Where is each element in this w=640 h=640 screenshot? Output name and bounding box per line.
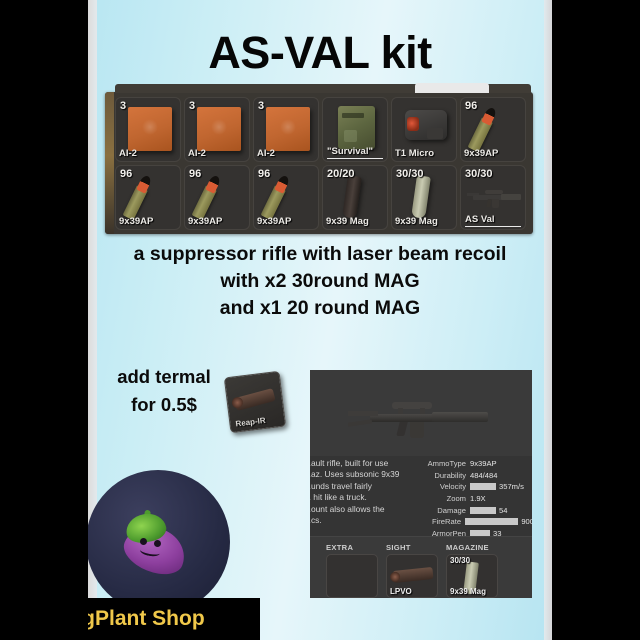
attachment-slot-title: SIGHT: [386, 543, 438, 552]
gun-description-line: ...ault rifle, built for use: [310, 458, 436, 469]
rifle-icon: [467, 188, 523, 208]
kit-description: a suppressor rifle with laser beam recoi…: [88, 243, 552, 320]
item-name: AI-2: [119, 148, 137, 159]
item-name: 9x39AP: [188, 216, 222, 227]
eggplant-eye-left-icon: [140, 538, 147, 545]
stat-label: AmmoType: [422, 459, 470, 468]
item-name: AI-2: [257, 148, 275, 159]
rifle-stock-lower-part: [348, 419, 372, 426]
attachment-slot-box[interactable]: [326, 554, 378, 598]
item-name: 9x39 Mag: [395, 216, 438, 227]
medkit-icon: [128, 107, 172, 151]
stat-label: Damage: [422, 506, 470, 515]
gun-preview: [310, 370, 532, 456]
inventory-slot[interactable]: 3AI-2: [253, 97, 319, 162]
stat-label: Durability: [422, 471, 470, 480]
thermal-offer-line-2: for 0.5$: [105, 394, 223, 416]
reap-ir-label: Reap-IR: [235, 416, 266, 429]
desc-line-3: and x1 20 round MAG: [88, 297, 552, 320]
stat-value: 54: [499, 506, 507, 515]
item-name: 9x39AP: [257, 216, 291, 227]
item-name: 9x39AP: [464, 148, 498, 159]
inventory-slot[interactable]: 969x39AP: [253, 165, 319, 230]
inventory-slot[interactable]: 969x39AP: [460, 97, 526, 162]
stat-value: 357m/s: [499, 482, 524, 491]
inventory-tab-active[interactable]: [415, 83, 489, 93]
inventory-slot[interactable]: T1 Micro: [391, 97, 457, 162]
attachment-name: 9x39 Mag: [450, 587, 486, 596]
gun-description-line: ...unds travel fairly: [310, 481, 436, 492]
inventory-slot[interactable]: 30/30AS Val: [460, 165, 526, 230]
item-name: T1 Micro: [395, 148, 434, 159]
shop-logo: [88, 470, 230, 614]
attachment-slot-box[interactable]: LPVO: [386, 554, 438, 598]
item-count: 96: [189, 168, 201, 180]
thermal-offer-line-1: add termal: [105, 366, 223, 388]
cartridge-icon: [123, 174, 154, 221]
eggplant-icon: [116, 514, 194, 576]
item-count: 96: [258, 168, 270, 180]
attachment-count: 30/30: [450, 556, 470, 565]
lpvo-scope-icon: [392, 567, 433, 583]
item-name: AS Val: [465, 214, 521, 227]
item-count: 20/20: [327, 168, 355, 180]
shop-name: EggPlant Shop: [88, 607, 205, 631]
inventory-slot[interactable]: 30/309x39 Mag: [391, 165, 457, 230]
shop-banner: EggPlant Shop: [88, 598, 260, 640]
item-name: "Survival": [327, 146, 383, 159]
rifle-suppressor-part: [432, 412, 488, 422]
attachment-slot-box[interactable]: 30/309x39 Mag: [446, 554, 498, 598]
item-name: AI-2: [188, 148, 206, 159]
reap-ir-thermal-scope-item: Reap-IR: [224, 371, 286, 433]
inventory-slot[interactable]: "Survival": [322, 97, 388, 162]
gun-description-line: ...ount also allows the: [310, 504, 436, 515]
gun-description-text: ...ault rifle, built for use...az. Uses …: [310, 458, 436, 526]
attachment-slot[interactable]: EXTRA: [326, 543, 378, 598]
stat-row: Durability484/484: [422, 470, 532, 482]
rifle-magazine-part: [410, 422, 424, 438]
inventory-slot[interactable]: 20/209x39 Mag: [322, 165, 388, 230]
stat-row: AmmoType9x39AP: [422, 458, 532, 470]
gun-description-line: ... hit like a truck.: [310, 492, 436, 503]
inventory-row: 969x39AP969x39AP969x39AP20/209x39 Mag30/…: [115, 165, 529, 230]
stat-row: Velocity357m/s: [422, 481, 532, 493]
inventory-slot[interactable]: 3AI-2: [115, 97, 181, 162]
attachment-name: LPVO: [390, 587, 412, 596]
item-name: 9x39AP: [119, 216, 153, 227]
item-count: 3: [189, 100, 195, 112]
item-count: 30/30: [396, 168, 424, 180]
item-name: 9x39 Mag: [326, 216, 369, 227]
stat-label: Zoom: [422, 494, 470, 503]
survival-kit-icon: [338, 106, 375, 149]
attachment-slots: EXTRASIGHTLPVOMAGAZINE30/309x39 Mag: [310, 536, 532, 598]
stat-value: 9x39AP: [470, 459, 497, 468]
inventory-slot[interactable]: 969x39AP: [184, 165, 250, 230]
gun-description-line: ...cs.: [310, 515, 436, 526]
inventory-panel: 3AI-23AI-23AI-2"Survival"T1 Micro969x39A…: [105, 92, 533, 234]
page-title: AS-VAL kit: [88, 27, 552, 79]
eggplant-eye-right-icon: [154, 540, 161, 547]
item-count: 96: [465, 100, 477, 112]
desc-line-2: with x2 30round MAG: [88, 270, 552, 293]
stat-value: 1.9X: [470, 494, 486, 503]
cartridge-icon: [192, 174, 223, 221]
rifle-grip-part: [396, 422, 407, 436]
medkit-icon: [266, 107, 310, 151]
thermal-offer: add termal for 0.5$ Reap-IR: [105, 366, 295, 416]
item-count: 30/30: [465, 168, 493, 180]
inventory-slot[interactable]: 969x39AP: [115, 165, 181, 230]
stat-bar: [470, 483, 496, 490]
cartridge-icon: [261, 174, 292, 221]
attachment-slot-title: EXTRA: [326, 543, 378, 552]
magazine-icon: [342, 175, 362, 219]
desc-line-1: a suppressor rifle with laser beam recoi…: [88, 243, 552, 266]
stat-row: Damage54: [422, 504, 532, 516]
stat-bar: [470, 507, 496, 514]
item-count: 3: [120, 100, 126, 112]
red-dot-sight-icon: [405, 110, 447, 140]
attachment-slot-title: MAGAZINE: [446, 543, 498, 552]
stat-value: 484/484: [470, 471, 497, 480]
stat-value: 900: [521, 517, 532, 526]
poster-image: AS-VAL kit 3AI-23AI-23AI-2"Survival"T1 M…: [0, 0, 640, 640]
stat-label: FireRate: [422, 517, 465, 526]
gun-description-line: ...az. Uses subsonic 9x39: [310, 469, 436, 480]
inventory-row: 3AI-23AI-23AI-2"Survival"T1 Micro969x39A…: [115, 97, 529, 162]
stat-row: Zoom1.9X: [422, 493, 532, 505]
medkit-icon: [197, 107, 241, 151]
rifle-stock-part: [348, 411, 378, 416]
attachment-slot[interactable]: SIGHTLPVO: [386, 543, 438, 598]
stat-row: FireRate900: [422, 516, 532, 528]
stat-label: Velocity: [422, 482, 470, 491]
poster-body: AS-VAL kit 3AI-23AI-23AI-2"Survival"T1 M…: [88, 0, 552, 640]
attachment-slot[interactable]: MAGAZINE30/309x39 Mag: [446, 543, 498, 598]
item-count: 96: [120, 168, 132, 180]
stat-bar: [465, 518, 518, 525]
game-detail-panel: ...ault rifle, built for use...az. Uses …: [310, 370, 532, 598]
magazine-icon: [411, 175, 431, 219]
inventory-slot[interactable]: 3AI-2: [184, 97, 250, 162]
as-val-rifle-render: [348, 394, 494, 438]
item-count: 3: [258, 100, 264, 112]
cartridge-icon: [468, 106, 499, 153]
